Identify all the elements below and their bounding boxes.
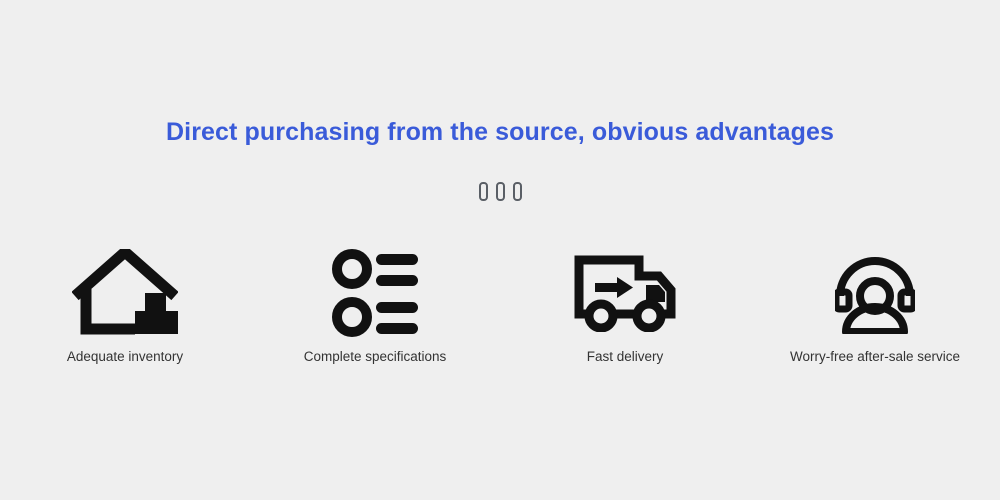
feature-label: Fast delivery (587, 349, 664, 365)
specification-list-icon (332, 245, 418, 340)
feature-label: Complete specifications (304, 349, 447, 365)
decorative-separator (0, 181, 1000, 201)
separator-mark-3 (513, 182, 522, 201)
separator-mark-2 (496, 182, 505, 201)
feature-label: Adequate inventory (67, 349, 183, 365)
feature-item-specifications: Complete specifications (265, 245, 485, 365)
promo-banner: Direct purchasing from the source, obvio… (0, 0, 1000, 500)
page-title: Direct purchasing from the source, obvio… (0, 116, 1000, 148)
feature-item-support: Worry-free after-sale service (765, 245, 985, 365)
feature-list: Adequate inventory Complete specificatio… (0, 245, 1000, 365)
feature-label: Worry-free after-sale service (790, 349, 960, 365)
headset-support-icon (835, 245, 915, 340)
feature-item-inventory: Adequate inventory (15, 245, 235, 365)
warehouse-house-icon (72, 245, 178, 340)
separator-mark-1 (479, 182, 488, 201)
feature-item-delivery: Fast delivery (515, 245, 735, 365)
delivery-truck-icon (573, 245, 677, 340)
